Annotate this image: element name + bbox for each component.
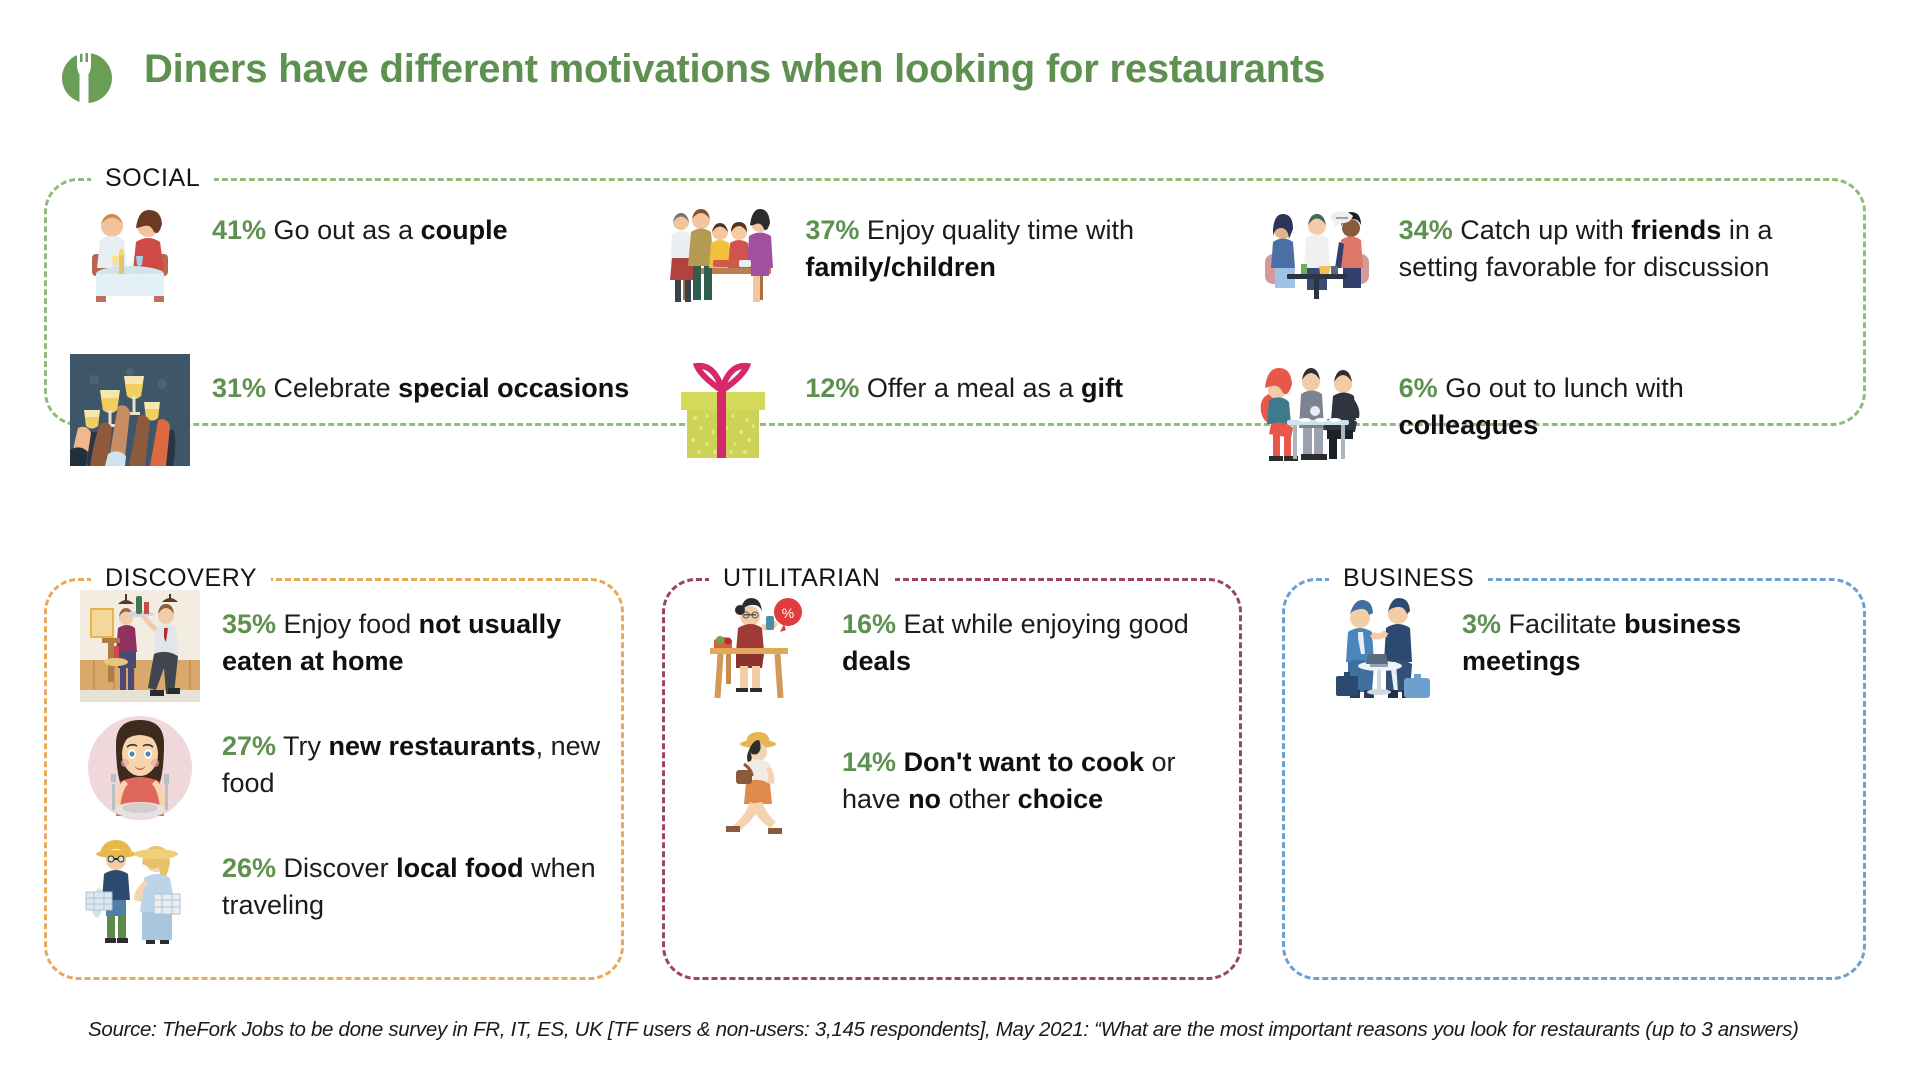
motivation-percentage: 41%: [212, 215, 266, 245]
motivation-keyword: family/children: [805, 252, 996, 282]
motivation-text: 34% Catch up with friends in a setting f…: [1399, 196, 1829, 286]
source-note: Source: TheFork Jobs to be done survey i…: [88, 1018, 1878, 1042]
motivation-text: 16% Eat while enjoying good deals: [842, 590, 1240, 680]
motivation-phrase: Go out to lunch with: [1438, 373, 1684, 403]
section-label-discovery: DISCOVERY: [91, 563, 271, 593]
motivation-item: % 16% Eat while enjoying good deals: [700, 590, 1240, 728]
motivation-phrase: Discover: [276, 853, 396, 883]
restaurant-waiter-illustration: [80, 590, 200, 702]
motivation-phrase: Celebrate: [266, 373, 398, 403]
motivation-percentage: 37%: [805, 215, 859, 245]
businessmen-meeting-illustration: [1320, 590, 1440, 702]
motivation-item: 6% Go out to lunch with colleagues: [1257, 354, 1850, 512]
motivation-item: 41% Go out as a couple: [70, 196, 663, 354]
motivation-percentage: 31%: [212, 373, 266, 403]
motivation-text: 35% Enjoy food not usually eaten at home: [222, 590, 620, 680]
motivation-phrase: Enjoy quality time with: [859, 215, 1134, 245]
motivation-item: 14% Don't want to cook or have no other …: [700, 728, 1240, 866]
walking-woman-illustration: [700, 728, 820, 840]
motivation-item: 37% Enjoy quality time with family/child…: [663, 196, 1256, 354]
tourists-with-map-illustration: [80, 834, 200, 946]
gift-box-illustration: [663, 354, 783, 466]
svg-text:%: %: [782, 605, 794, 621]
motivation-phrase: [896, 747, 904, 777]
items-discovery: 35% Enjoy food not usually eaten at home…: [80, 590, 620, 956]
motivation-phrase: Go out as a: [266, 215, 421, 245]
motivation-keyword: gift: [1081, 373, 1123, 403]
motivation-item: 12% Offer a meal as a gift: [663, 354, 1256, 512]
woman-with-cutlery-illustration: [80, 712, 200, 824]
couple-dinner-illustration: [70, 196, 190, 308]
motivation-item: 35% Enjoy food not usually eaten at home: [80, 590, 620, 712]
motivation-percentage: 14%: [842, 747, 896, 777]
motivation-keyword: couple: [421, 215, 508, 245]
woman-discount-phone-illustration: %: [700, 590, 820, 702]
motivation-text: 41% Go out as a couple: [212, 196, 508, 249]
motivation-keyword: deals: [842, 646, 911, 676]
motivation-keyword: Don't want to cook: [904, 747, 1144, 777]
motivation-keyword: no: [908, 784, 941, 814]
colleagues-lunch-illustration: [1257, 354, 1377, 466]
motivation-keyword: friends: [1631, 215, 1721, 245]
motivation-text: 12% Offer a meal as a gift: [805, 354, 1123, 407]
page-header: Diners have different motivations when l…: [56, 34, 1325, 104]
items-business: 3% Facilitate business meetings: [1320, 590, 1866, 728]
motivation-percentage: 12%: [805, 373, 859, 403]
motivation-percentage: 26%: [222, 853, 276, 883]
motivation-keyword: choice: [1018, 784, 1104, 814]
motivation-item: 26% Discover local food when traveling: [80, 834, 620, 956]
motivation-keyword: special occasions: [398, 373, 629, 403]
motivation-percentage: 35%: [222, 609, 276, 639]
section-label-social: SOCIAL: [91, 163, 214, 193]
motivation-item: 3% Facilitate business meetings: [1320, 590, 1866, 728]
motivation-item: 27% Try new restaurants, new food: [80, 712, 620, 834]
motivation-keyword: new restaurants: [329, 731, 536, 761]
motivation-text: 6% Go out to lunch with colleagues: [1399, 354, 1829, 444]
motivation-item: 34% Catch up with friends in a setting f…: [1257, 196, 1850, 354]
motivation-percentage: 16%: [842, 609, 896, 639]
family-dining-illustration: [663, 196, 783, 308]
motivation-phrase: Eat while enjoying good: [896, 609, 1189, 639]
motivation-phrase: Catch up with: [1453, 215, 1632, 245]
infographic-page: Diners have different motivations when l…: [0, 0, 1908, 1076]
friends-table-illustration: [1257, 196, 1377, 308]
champagne-toast-illustration: [70, 354, 190, 466]
motivation-phrase: Try: [276, 731, 329, 761]
motivation-text: 14% Don't want to cook or have no other …: [842, 728, 1240, 818]
motivation-keyword: colleagues: [1399, 410, 1539, 440]
motivation-text: 37% Enjoy quality time with family/child…: [805, 196, 1235, 286]
motivation-percentage: 27%: [222, 731, 276, 761]
motivation-item: 31% Celebrate special occasions: [70, 354, 663, 512]
thefork-logo-icon: [56, 34, 118, 104]
motivation-percentage: 34%: [1399, 215, 1453, 245]
section-label-business: BUSINESS: [1329, 563, 1488, 593]
motivation-percentage: 6%: [1399, 373, 1438, 403]
items-utilitarian: % 16% Eat while enjoying good deals 14% …: [700, 590, 1240, 866]
motivation-text: 26% Discover local food when traveling: [222, 834, 620, 924]
motivation-text: 3% Facilitate business meetings: [1462, 590, 1866, 680]
motivation-phrase: Enjoy food: [276, 609, 419, 639]
motivation-percentage: 3%: [1462, 609, 1501, 639]
motivation-text: 27% Try new restaurants, new food: [222, 712, 620, 802]
page-title: Diners have different motivations when l…: [144, 47, 1325, 92]
items-social: 41% Go out as a couple 37% Enjoy quality…: [70, 196, 1850, 512]
motivation-phrase: Facilitate: [1501, 609, 1624, 639]
motivation-phrase: Offer a meal as a: [859, 373, 1081, 403]
motivation-text: 31% Celebrate special occasions: [212, 354, 629, 407]
motivation-phrase: other: [941, 784, 1018, 814]
motivation-keyword: local food: [396, 853, 524, 883]
section-label-utilitarian: UTILITARIAN: [709, 563, 895, 593]
